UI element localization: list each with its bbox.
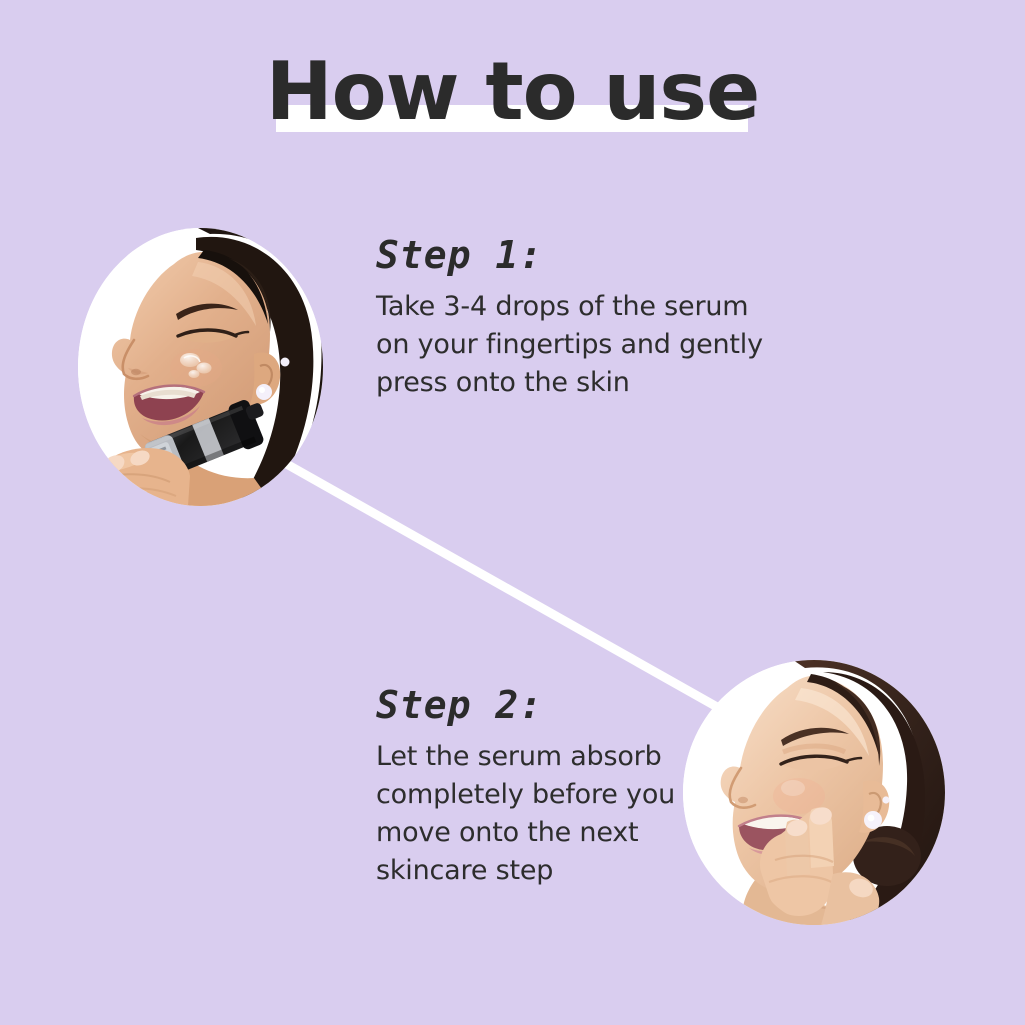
- step-2-photo: [683, 660, 945, 925]
- step-1-heading: Step 1:: [376, 232, 776, 278]
- step-2-heading: Step 2:: [376, 682, 686, 728]
- title-section: How to use: [0, 46, 1025, 156]
- step-1-block: Step 1: Take 3-4 drops of the serum on y…: [376, 232, 776, 402]
- how-to-use-infographic: How to use: [0, 0, 1025, 1025]
- step-1-body: Take 3-4 drops of the serum on your fing…: [376, 288, 776, 402]
- step-2-body: Let the serum absorb completely before y…: [376, 738, 686, 890]
- step-1-photo: [78, 228, 323, 506]
- page-title: How to use: [0, 46, 1025, 138]
- step-2-block: Step 2: Let the serum absorb completely …: [376, 682, 686, 890]
